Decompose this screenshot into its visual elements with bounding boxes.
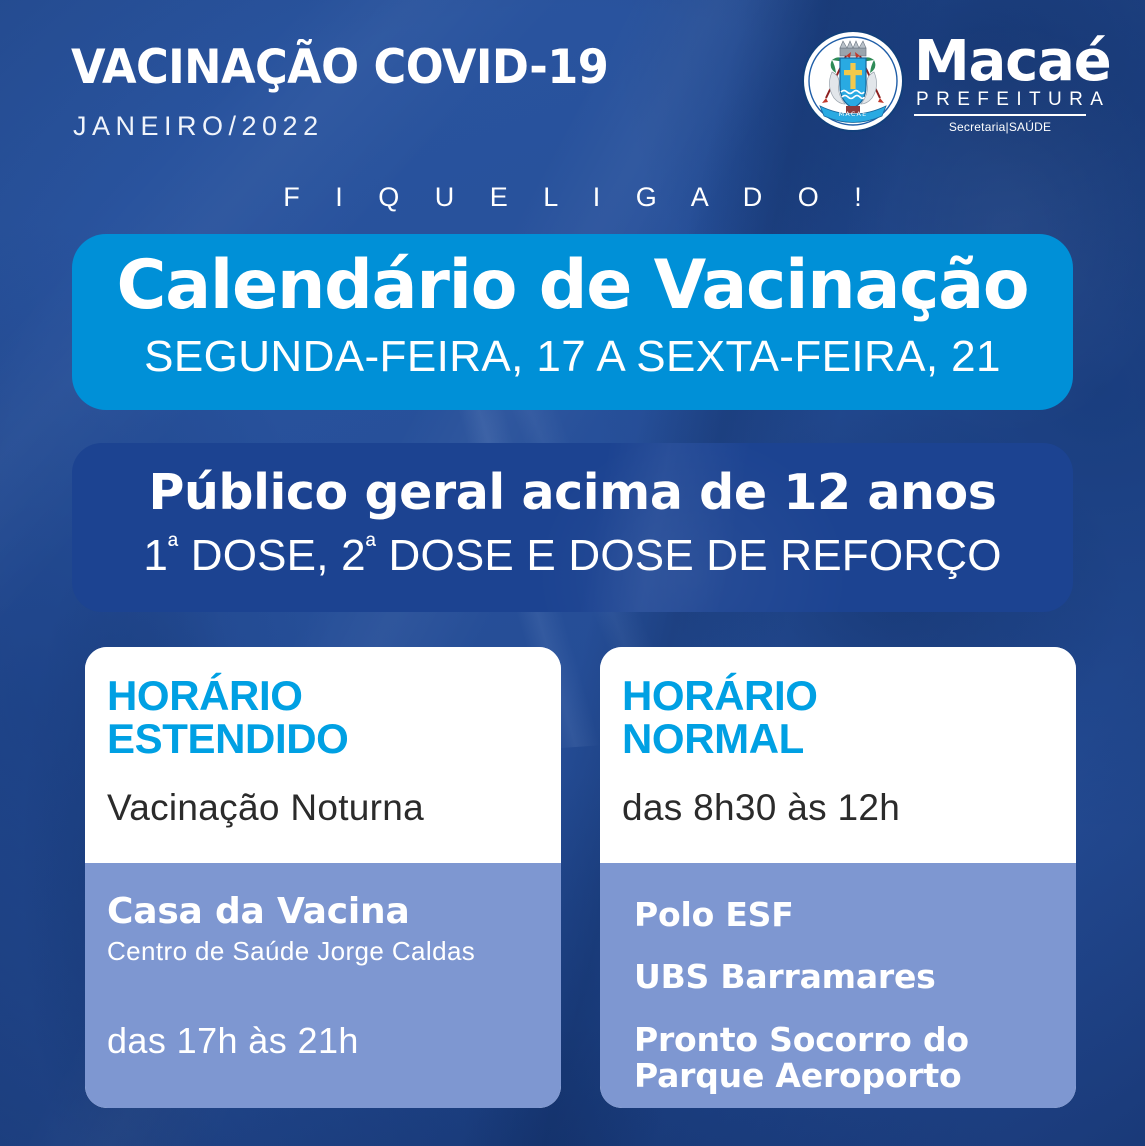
- macae-coat-of-arms-icon: MACAÉ: [802, 30, 904, 132]
- dose-ordinal-1: ª: [168, 529, 178, 560]
- card-normal-hours-heading: HORÁRIO NORMAL: [600, 675, 1076, 761]
- logo-city-name: Macaé: [914, 36, 1094, 88]
- card-normal-hours-location-list: Polo ESF UBS Barramares Pronto Socorro d…: [634, 897, 1060, 1094]
- logo-org-name: PREFEITURA: [914, 88, 1094, 112]
- dose-text-suffix: DOSE E DOSE DE REFORÇO: [376, 531, 1002, 580]
- audience-banner-title: Público geral acima de 12 anos: [72, 468, 1073, 517]
- svg-text:MACAÉ: MACAÉ: [839, 109, 868, 118]
- page-title: VACINAÇÃO COVID-19: [71, 44, 608, 91]
- vaccination-calendar-poster: VACINAÇÃO COVID-19 JANEIRO/2022: [0, 0, 1145, 1146]
- calendar-banner: Calendário de Vacinação SEGUNDA-FEIRA, 1…: [72, 234, 1073, 410]
- card-normal-hours: HORÁRIO NORMAL das 8h30 às 12h Polo ESF …: [600, 647, 1076, 1108]
- calendar-banner-title: Calendário de Vacinação: [72, 252, 1073, 320]
- list-item: Pronto Socorro do Parque Aeroporto: [634, 1022, 1060, 1095]
- logo-divider: [914, 114, 1086, 116]
- dose-ordinal-2: ª: [366, 529, 376, 560]
- audience-banner-doses: 1ª DOSE, 2ª DOSE E DOSE DE REFORÇO: [72, 534, 1073, 578]
- card-extended-hours-heading: HORÁRIO ESTENDIDO: [85, 675, 561, 761]
- list-item: UBS Barramares: [634, 959, 1060, 995]
- calendar-banner-date-range: SEGUNDA-FEIRA, 17 A SEXTA-FEIRA, 21: [72, 335, 1073, 379]
- card-extended-hours: HORÁRIO ESTENDIDO Vacinação Noturna Casa…: [85, 647, 561, 1108]
- card-extended-hours-bottom: Casa da Vacina Centro de Saúde Jorge Cal…: [85, 863, 561, 1108]
- card-extended-hours-location-block: Casa da Vacina Centro de Saúde Jorge Cal…: [107, 893, 543, 966]
- attention-line: F I Q U E L I G A D O !: [0, 182, 1145, 213]
- card-normal-hours-bottom: Polo ESF UBS Barramares Pronto Socorro d…: [600, 863, 1076, 1108]
- dose-text-mid: DOSE, 2: [178, 531, 365, 580]
- location-name: Casa da Vacina: [107, 893, 543, 931]
- card-normal-hours-subheading: das 8h30 às 12h: [600, 789, 1076, 828]
- audience-banner: Público geral acima de 12 anos 1ª DOSE, …: [72, 443, 1073, 612]
- macae-logo: MACAÉ Macaé PREFEITURA Secretaria|SAÚDE: [802, 30, 1102, 142]
- card-extended-hours-subheading: Vacinação Noturna: [85, 789, 561, 828]
- card-extended-hours-top: HORÁRIO ESTENDIDO Vacinação Noturna: [85, 647, 561, 863]
- card-normal-hours-top: HORÁRIO NORMAL das 8h30 às 12h: [600, 647, 1076, 863]
- list-item: Polo ESF: [634, 897, 1060, 933]
- location-note: Centro de Saúde Jorge Caldas: [107, 937, 543, 966]
- dose-text-prefix: 1: [143, 531, 168, 580]
- page-subtitle: JANEIRO/2022: [73, 113, 324, 140]
- card-extended-hours-time: das 17h às 21h: [107, 1023, 359, 1059]
- logo-department: Secretaria|SAÚDE: [914, 120, 1086, 134]
